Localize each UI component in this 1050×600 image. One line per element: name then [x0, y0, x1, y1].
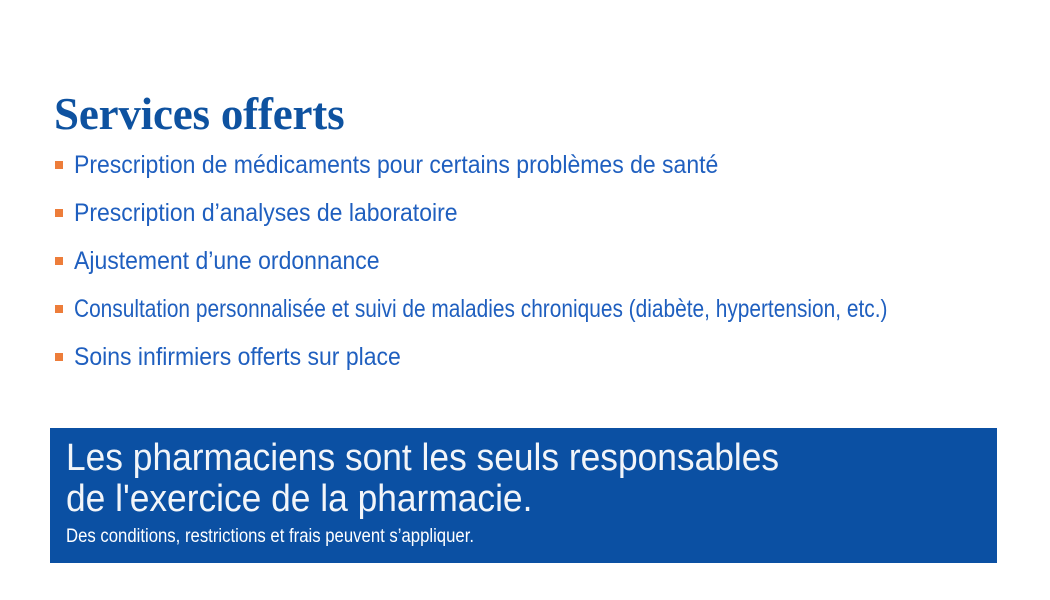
- callout-subline: Des conditions, restrictions et frais pe…: [66, 526, 871, 548]
- callout-headline: Les pharmaciens sont les seuls responsab…: [66, 438, 917, 520]
- square-bullet-icon: [55, 305, 63, 313]
- callout-banner: Les pharmaciens sont les seuls responsab…: [50, 428, 997, 563]
- square-bullet-icon: [55, 353, 63, 361]
- services-bullet-list: Prescription de médicaments pour certain…: [52, 141, 1037, 381]
- slide: Services offerts Prescription de médicam…: [0, 0, 1050, 600]
- list-item-label: Prescription d’analyses de laboratoire: [74, 198, 458, 228]
- list-item: Prescription de médicaments pour certain…: [52, 141, 1037, 189]
- square-bullet-icon: [55, 161, 63, 169]
- list-item: Consultation personnalisée et suivi de m…: [52, 285, 1037, 333]
- list-item-label: Consultation personnalisée et suivi de m…: [74, 294, 887, 324]
- list-item: Ajustement d’une ordonnance: [52, 237, 1037, 285]
- square-bullet-icon: [55, 257, 63, 265]
- square-bullet-icon: [55, 209, 63, 217]
- list-item-label: Soins infirmiers offerts sur place: [74, 342, 401, 372]
- list-item-label: Prescription de médicaments pour certain…: [74, 150, 718, 180]
- page-title: Services offerts: [54, 88, 344, 140]
- list-item: Soins infirmiers offerts sur place: [52, 333, 1037, 381]
- list-item-label: Ajustement d’une ordonnance: [74, 246, 380, 276]
- list-item: Prescription d’analyses de laboratoire: [52, 189, 1037, 237]
